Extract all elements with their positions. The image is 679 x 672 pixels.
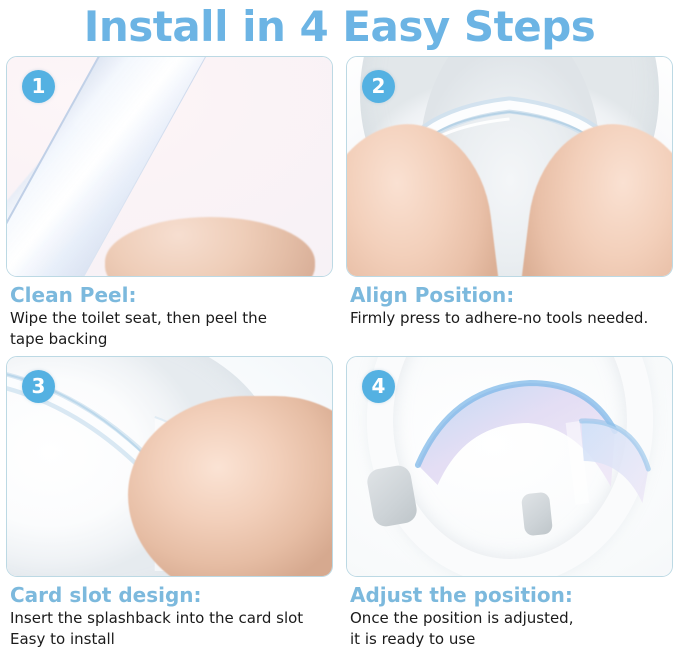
step-heading-2: Align Position: xyxy=(350,283,671,307)
step-image-3-scene: 3 xyxy=(7,357,332,576)
step-caption-1: Clean Peel: Wipe the toilet seat, then p… xyxy=(6,277,333,350)
step-caption-2: Align Position: Firmly press to adhere-n… xyxy=(346,277,673,329)
step-image-2: 2 xyxy=(346,56,673,277)
panel4-installed-splashback-icon xyxy=(347,357,672,576)
step-number-badge-3: 3 xyxy=(22,370,55,403)
step-image-4: 4 xyxy=(346,356,673,577)
step-image-1: M28 1 xyxy=(6,56,333,277)
step-heading-1: Clean Peel: xyxy=(10,283,331,307)
step-body-2: Firmly press to adhere-no tools needed. xyxy=(350,308,671,329)
step-caption-3: Card slot design: Insert the splashback … xyxy=(6,577,333,650)
step-number-badge-4: 4 xyxy=(362,370,395,403)
step-image-4-scene: 4 xyxy=(347,357,672,576)
step-heading-3: Card slot design: xyxy=(10,583,331,607)
step-card-2: 2 Align Position: Firmly press to adhere… xyxy=(346,56,673,350)
step-number-badge-2: 2 xyxy=(362,70,395,103)
step-image-3: 3 xyxy=(6,356,333,577)
steps-grid: M28 1 Clean Peel: Wipe the toilet seat, … xyxy=(0,56,679,650)
step-card-4: 4 Adjust the position: Once the position… xyxy=(346,356,673,650)
step-image-2-scene: 2 xyxy=(347,57,672,276)
panel4-bumper-pad-right xyxy=(520,491,552,536)
step-body-3: Insert the splashback into the card slot… xyxy=(10,608,331,650)
step-card-3: 3 Card slot design: Insert the splashbac… xyxy=(6,356,333,650)
step-number-badge-1: 1 xyxy=(22,70,55,103)
step-heading-4: Adjust the position: xyxy=(350,583,671,607)
step-card-1: M28 1 Clean Peel: Wipe the toilet seat, … xyxy=(6,56,333,350)
step-body-4: Once the position is adjusted, it is rea… xyxy=(350,608,671,650)
step-body-1: Wipe the toilet seat, then peel the tape… xyxy=(10,308,331,350)
step-image-1-scene: M28 1 xyxy=(7,57,332,276)
step-caption-4: Adjust the position: Once the position i… xyxy=(346,577,673,650)
page-title: Install in 4 Easy Steps xyxy=(0,0,679,56)
